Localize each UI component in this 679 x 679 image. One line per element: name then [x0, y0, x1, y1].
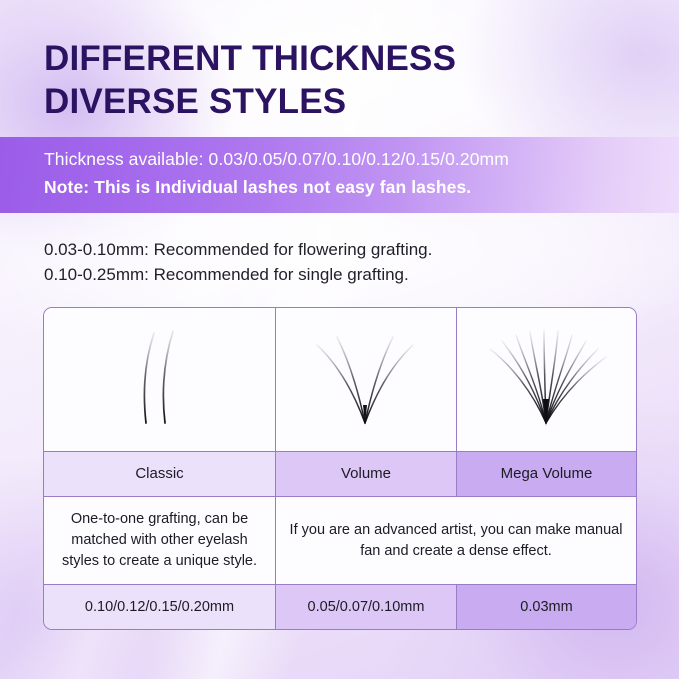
table-row-labels: Classic Volume Mega Volume	[44, 451, 636, 496]
cell-illustration-volume	[275, 308, 456, 451]
recommendation-flowering: 0.03-0.10mm: Recommended for flowering g…	[44, 237, 432, 262]
cell-thickness-classic: 0.10/0.12/0.15/0.20mm	[44, 585, 275, 629]
cell-label-volume: Volume	[275, 452, 456, 496]
cell-thickness-volume: 0.05/0.07/0.10mm	[275, 585, 456, 629]
table-row-descriptions: One-to-one grafting, can be matched with…	[44, 496, 636, 584]
mega-volume-fan-icon	[467, 308, 626, 451]
banner-thickness-line: Thickness available: 0.03/0.05/0.07/0.10…	[44, 149, 509, 170]
volume-fan-icon	[286, 308, 446, 451]
classic-lash-icon	[54, 308, 265, 451]
label-volume: Volume	[341, 464, 391, 484]
thickness-volume: 0.05/0.07/0.10mm	[308, 597, 425, 617]
banner-note-line: Note: This is Individual lashes not easy…	[44, 177, 471, 198]
cell-description-volume-mega: If you are an advanced artist, you can m…	[275, 497, 636, 584]
cell-thickness-mega-volume: 0.03mm	[456, 585, 636, 629]
cell-illustration-mega-volume	[456, 308, 636, 451]
lash-style-comparison-table: Classic Volume Mega Volume One-to-one gr…	[43, 307, 637, 630]
cell-illustration-classic	[44, 308, 275, 451]
table-row-illustrations	[44, 308, 636, 451]
thickness-banner: Thickness available: 0.03/0.05/0.07/0.10…	[0, 137, 679, 213]
thickness-mega-volume: 0.03mm	[520, 597, 572, 617]
label-mega-volume: Mega Volume	[501, 464, 593, 484]
recommendation-single: 0.10-0.25mm: Recommended for single graf…	[44, 262, 409, 287]
cell-label-classic: Classic	[44, 452, 275, 496]
thickness-classic: 0.10/0.12/0.15/0.20mm	[85, 597, 234, 617]
description-classic: One-to-one grafting, can be matched with…	[54, 509, 265, 572]
page-title: DIFFERENT THICKNESS DIVERSE STYLES	[44, 37, 644, 123]
cell-label-mega-volume: Mega Volume	[456, 452, 636, 496]
table-row-thickness: 0.10/0.12/0.15/0.20mm 0.05/0.07/0.10mm 0…	[44, 584, 636, 629]
infographic-page: DIFFERENT THICKNESS DIVERSE STYLES Thick…	[0, 0, 679, 679]
description-volume-mega: If you are an advanced artist, you can m…	[286, 520, 626, 562]
label-classic: Classic	[135, 464, 183, 484]
cell-description-classic: One-to-one grafting, can be matched with…	[44, 497, 275, 584]
